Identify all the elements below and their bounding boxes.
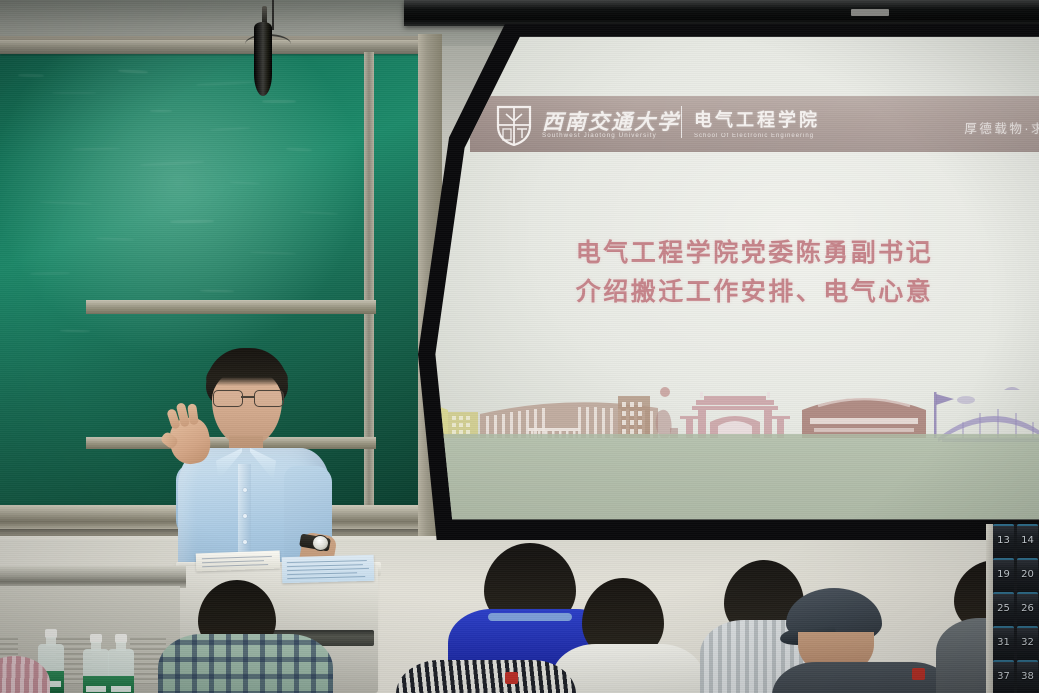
slide-title: 电气工程学院党委陈勇副书记 介绍搬迁工作安排、电气心意	[470, 234, 1039, 312]
printed-handout	[282, 555, 375, 583]
paper-stack	[196, 551, 281, 572]
locker-pocket[interactable]: 14	[1017, 524, 1038, 558]
presentation-slide: 西南交通大学 Southwest Jiaotong University 电气工…	[470, 38, 1039, 516]
locker-pocket[interactable]: 31	[993, 626, 1014, 660]
slide-title-line-2: 介绍搬迁工作安排、电气心意	[470, 273, 1039, 312]
locker-row: 1314	[993, 524, 1039, 558]
bottle-cap	[505, 672, 518, 684]
locker-row: 2526	[993, 592, 1039, 626]
locker-number: 13	[993, 535, 1014, 546]
locker-number: 38	[1017, 671, 1038, 682]
locker-row: 1920	[993, 558, 1039, 592]
screen-surface: 西南交通大学 Southwest Jiaotong University 电气工…	[418, 24, 1039, 540]
locker-number: 32	[1017, 637, 1038, 648]
locker-number: 14	[1017, 535, 1038, 546]
attendee-shoulders	[772, 662, 956, 693]
locker-number: 19	[993, 569, 1014, 580]
slide-ground-band	[418, 434, 1039, 534]
locker-number: 25	[993, 603, 1014, 614]
projector-screen: 西南交通大学 Southwest Jiaotong University 电气工…	[418, 24, 1039, 540]
locker-number: 37	[993, 671, 1014, 682]
locker-number: 31	[993, 637, 1014, 648]
roller-brand-label	[851, 9, 889, 16]
university-motto: 厚德载物·求是创新	[964, 118, 1039, 137]
hanging-microphone-icon	[254, 22, 272, 96]
locker-number: 20	[1017, 569, 1038, 580]
attendee-flat-cap	[772, 588, 952, 693]
college-name-en: School Of Electronic Engineering	[694, 133, 814, 139]
attendee-foreground-left	[0, 646, 50, 693]
university-name-en: Southwest Jiaotong University	[542, 132, 657, 139]
locker-pocket[interactable]: 19	[993, 558, 1014, 592]
locker-pocket[interactable]: 13	[993, 524, 1014, 558]
screen-roller-housing	[404, 0, 1039, 26]
bottle-cap	[912, 668, 925, 680]
speaker-figure	[150, 348, 360, 578]
college-name-cn: 电气工程学院	[694, 106, 820, 132]
locker-pocket[interactable]: 20	[1017, 558, 1038, 592]
locker-pocket[interactable]: 32	[1017, 626, 1038, 660]
attendee-plaid-shirt	[158, 580, 328, 693]
university-shield-icon	[496, 104, 532, 146]
water-bottle	[83, 634, 109, 693]
locker-row: 3738	[993, 660, 1039, 693]
chalkboard-mid-tray	[86, 300, 376, 314]
locker-pocket[interactable]: 25	[993, 592, 1014, 626]
locker-pocket[interactable]: 37	[993, 660, 1014, 693]
slide-title-line-1: 电气工程学院党委陈勇副书记	[470, 234, 1039, 273]
eyeglasses-icon	[210, 390, 286, 406]
attendee-shoulders	[158, 634, 333, 693]
locker-pocket[interactable]: 26	[1017, 592, 1038, 626]
lecture-hall-photo: 西南交通大学 Southwest Jiaotong University 电气工…	[0, 0, 1039, 693]
water-bottle	[108, 634, 134, 693]
header-divider	[681, 106, 682, 138]
locker-number: 26	[1017, 603, 1038, 614]
numbered-storage-panel[interactable]: 13141920252631323738	[993, 524, 1039, 693]
attendee-striped-foreground	[396, 660, 576, 693]
locker-row: 3132	[993, 626, 1039, 660]
locker-pocket[interactable]: 38	[1017, 660, 1038, 693]
microphone-cable	[272, 0, 274, 30]
